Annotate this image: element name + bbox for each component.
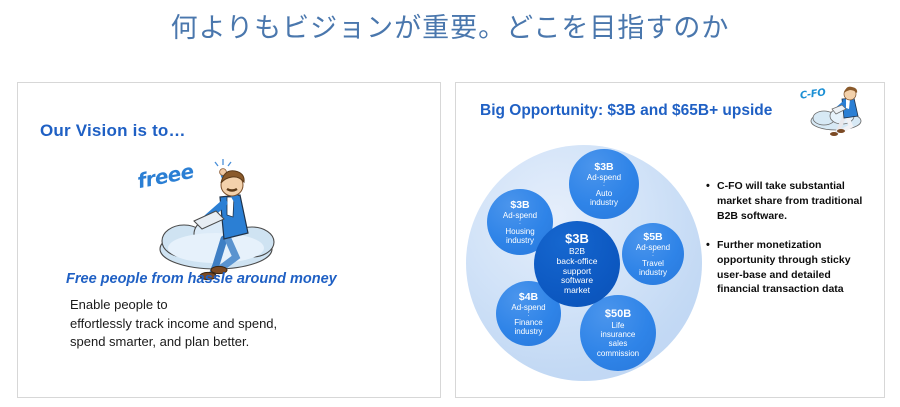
- bubble-label-line: Life: [612, 321, 625, 330]
- vision-tagline: Free people from hassle around money: [66, 271, 337, 287]
- bubble-label-line: Housing: [505, 227, 534, 236]
- bubble-life-insurance-sales-commission: $50B Life insurance sales commission: [580, 295, 656, 371]
- market-opportunity-bubble-chart: $3B Ad-spend : Housing industry $3B Ad-s…: [464, 143, 704, 393]
- bubble-label-line: Auto: [596, 189, 612, 198]
- bullet-text: Further monetization opportunity through…: [717, 238, 872, 298]
- bullet-text: C-FO will take substantial market share …: [717, 179, 872, 224]
- bullet-item: • Further monetization opportunity throu…: [706, 238, 872, 298]
- bubble-label-line: industry: [506, 236, 534, 245]
- person-on-cloud-illustration: freee: [128, 141, 308, 281]
- bubble-b2b-back-office-software-market: $3B B2B back-office support software mar…: [534, 221, 620, 307]
- bubble-amount: $3B: [594, 161, 613, 173]
- bubble-label-line: Finance: [514, 318, 542, 327]
- bubble-label-line: Travel: [642, 259, 664, 268]
- bubble-label-line: commission: [597, 349, 639, 358]
- bubble-label-line: industry: [590, 198, 618, 207]
- vision-body-line: effortlessly track income and spend,: [70, 315, 277, 334]
- bubble-separator: :: [528, 312, 530, 318]
- opportunity-bullet-list: • C-FO will take substantial market shar…: [706, 179, 872, 311]
- cloud-person-svg: [128, 141, 308, 281]
- bubble-auto-industry: $3B Ad-spend : Auto industry: [569, 149, 639, 219]
- bubble-label-line: sales: [609, 339, 628, 348]
- bubble-amount: $5B: [643, 231, 662, 243]
- bubble-label-line: market: [564, 286, 590, 296]
- bubble-separator: :: [519, 220, 521, 226]
- bullet-dot-icon: •: [706, 179, 717, 224]
- bubble-separator: :: [652, 252, 654, 258]
- bubble-amount: $3B: [510, 199, 529, 211]
- opportunity-heading: Big Opportunity: $3B and $65B+ upside: [480, 101, 790, 122]
- vision-body-text: Enable people to effortlessly track inco…: [70, 296, 277, 352]
- opportunity-panel: Big Opportunity: $3B and $65B+ upside C-…: [455, 82, 885, 398]
- bubble-separator: :: [603, 182, 605, 188]
- bubble-amount: $3B: [565, 232, 589, 247]
- vision-body-line: spend smarter, and plan better.: [70, 333, 277, 352]
- bubble-label-line: insurance: [601, 330, 636, 339]
- bubble-label-line: industry: [514, 327, 542, 336]
- vision-heading: Our Vision is to…: [40, 121, 186, 141]
- bubble-travel-industry: $5B Ad-spend : Travel industry: [622, 223, 684, 285]
- vision-body-line: Enable people to: [70, 296, 277, 315]
- slide-title: 何よりもビジョンが重要。どこを目指すのか: [0, 6, 900, 45]
- bubble-amount: $4B: [519, 291, 538, 303]
- cfo-person-on-cloud-illustration: C-FO: [798, 85, 876, 137]
- bubble-amount: $50B: [605, 308, 631, 321]
- bubble-label-line: industry: [639, 268, 667, 277]
- bullet-item: • C-FO will take substantial market shar…: [706, 179, 872, 224]
- bullet-dot-icon: •: [706, 238, 717, 298]
- vision-panel: Our Vision is to… freee: [17, 82, 441, 398]
